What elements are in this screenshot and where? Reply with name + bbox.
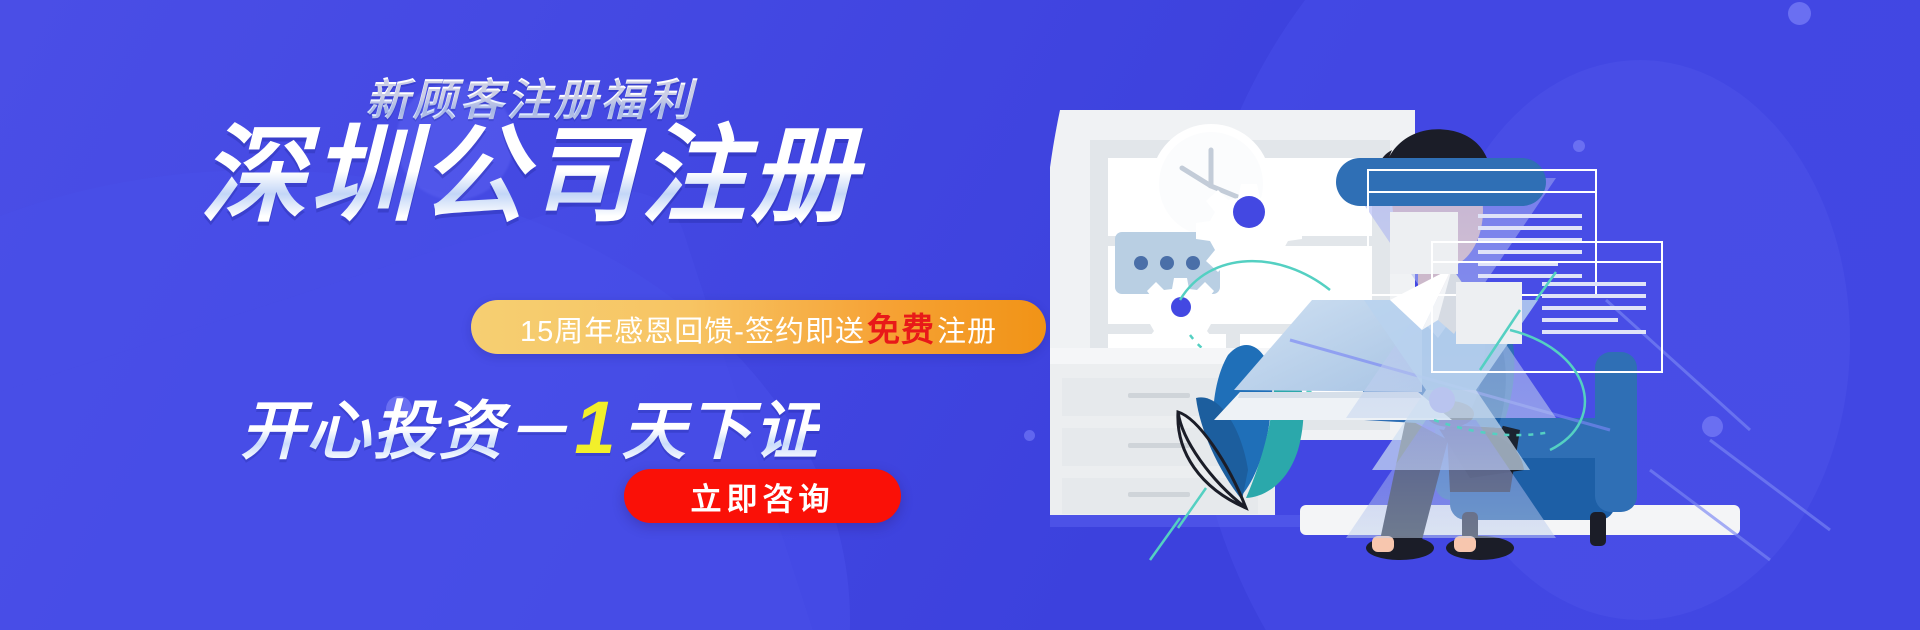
consult-now-label: 立即咨询 xyxy=(691,474,835,519)
promo-highlight: 免费 xyxy=(865,311,937,348)
gear-large-icon xyxy=(1196,184,1302,278)
promo-pill: 15周年感恩回馈-签约即送免费注册 xyxy=(471,300,1046,354)
banner-illustration xyxy=(1050,0,1920,630)
banner-copy: 新顾客注册福利 深圳公司注册 15周年感恩回馈-签约即送免费注册 开心投资－1天… xyxy=(0,0,1060,630)
promo-pill-text: 15周年感恩回馈-签约即送免费注册 xyxy=(520,303,997,351)
subline-before: 开心投资－ xyxy=(240,395,570,467)
banner-headline: 深圳公司注册 xyxy=(0,120,1060,232)
promo-banner: 新顾客注册福利 深圳公司注册 15周年感恩回馈-签约即送免费注册 开心投资－1天… xyxy=(0,0,1920,630)
promo-suffix: 注册 xyxy=(937,316,997,348)
gear-small-icon xyxy=(1139,278,1222,353)
subline-after: 天下证 xyxy=(622,395,820,467)
banner-subline: 开心投资－1天下证 xyxy=(0,380,1060,472)
subline-number: 1 xyxy=(570,386,621,469)
consult-now-button[interactable]: 立即咨询 xyxy=(624,469,901,523)
promo-prefix: 15周年感恩回馈-签约即送 xyxy=(520,316,865,348)
